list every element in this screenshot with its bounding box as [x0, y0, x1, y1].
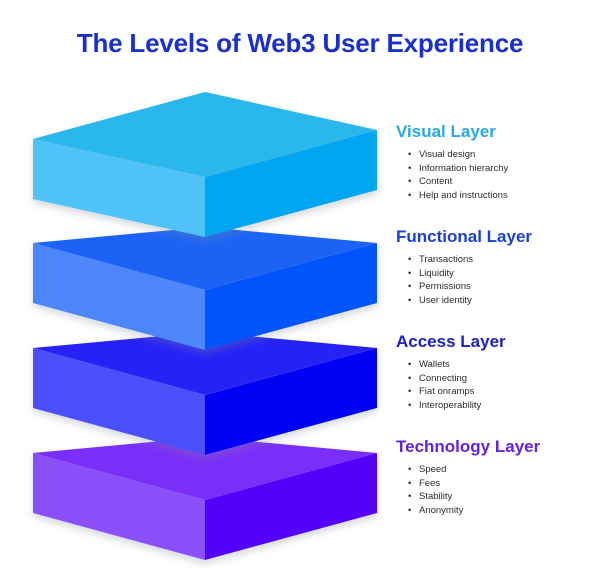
bullet-icon: • [408, 162, 411, 176]
list-item-label: Help and instructions [419, 190, 508, 201]
bullet-icon: • [408, 294, 411, 308]
bullet-icon: • [408, 175, 411, 189]
layer-title-functional: Functional Layer [396, 227, 600, 247]
list-item-label: Wallets [419, 359, 450, 370]
bullet-icon: • [408, 267, 411, 281]
list-item: •Transactions [408, 253, 600, 267]
list-item: •User identity [408, 294, 600, 308]
list-item: •Anonymity [408, 504, 600, 518]
bullet-icon: • [408, 358, 411, 372]
list-item-label: Connecting [419, 373, 467, 384]
bullet-icon: • [408, 280, 411, 294]
box-functional [33, 227, 377, 350]
list-item: •Stability [408, 490, 600, 504]
label-group-functional: Functional Layer •Transactions •Liquidit… [396, 227, 600, 307]
bullet-list-access: •Wallets •Connecting •Fiat onramps •Inte… [396, 358, 600, 412]
list-item: •Permissions [408, 280, 600, 294]
list-item: •Fiat onramps [408, 385, 600, 399]
layer-title-technology: Technology Layer [396, 437, 600, 457]
box-technology [33, 437, 377, 560]
list-item: •Information hierarchy [408, 162, 600, 176]
bullet-icon: • [408, 372, 411, 386]
bullet-icon: • [408, 189, 411, 203]
layer-labels: Visual Layer •Visual design •Information… [396, 80, 600, 570]
label-group-technology: Technology Layer •Speed •Fees •Stability… [396, 437, 600, 517]
list-item-label: Transactions [419, 254, 473, 265]
bullet-icon: • [408, 490, 411, 504]
bullet-list-technology: •Speed •Fees •Stability •Anonymity [396, 463, 600, 517]
list-item: •Speed [408, 463, 600, 477]
list-item: •Visual design [408, 148, 600, 162]
bullet-icon: • [408, 385, 411, 399]
box-visual [33, 92, 377, 237]
list-item-label: User identity [419, 295, 472, 306]
list-item-label: Speed [419, 464, 446, 475]
list-item: •Liquidity [408, 267, 600, 281]
list-item: •Help and instructions [408, 189, 600, 203]
bullet-list-functional: •Transactions •Liquidity •Permissions •U… [396, 253, 600, 307]
bullet-icon: • [408, 399, 411, 413]
box-access [33, 332, 377, 455]
list-item: •Wallets [408, 358, 600, 372]
list-item-label: Interoperability [419, 400, 481, 411]
list-item-label: Visual design [419, 149, 475, 160]
bullet-list-visual: •Visual design •Information hierarchy •C… [396, 148, 600, 202]
list-item-label: Liquidity [419, 268, 454, 279]
list-item: •Connecting [408, 372, 600, 386]
list-item: •Content [408, 175, 600, 189]
bullet-icon: • [408, 253, 411, 267]
label-group-access: Access Layer •Wallets •Connecting •Fiat … [396, 332, 600, 412]
list-item: •Interoperability [408, 399, 600, 413]
list-item-label: Permissions [419, 281, 471, 292]
bullet-icon: • [408, 477, 411, 491]
layer-title-access: Access Layer [396, 332, 600, 352]
bullet-icon: • [408, 463, 411, 477]
list-item-label: Content [419, 176, 452, 187]
label-group-visual: Visual Layer •Visual design •Information… [396, 122, 600, 202]
page-title: The Levels of Web3 User Experience [0, 28, 600, 59]
bullet-icon: • [408, 504, 411, 518]
bullet-icon: • [408, 148, 411, 162]
list-item: •Fees [408, 477, 600, 491]
list-item-label: Fiat onramps [419, 386, 474, 397]
list-item-label: Stability [419, 491, 452, 502]
list-item-label: Information hierarchy [419, 163, 508, 174]
list-item-label: Anonymity [419, 505, 463, 516]
layer-title-visual: Visual Layer [396, 122, 600, 142]
layer-stack-diagram [20, 80, 390, 570]
list-item-label: Fees [419, 478, 440, 489]
